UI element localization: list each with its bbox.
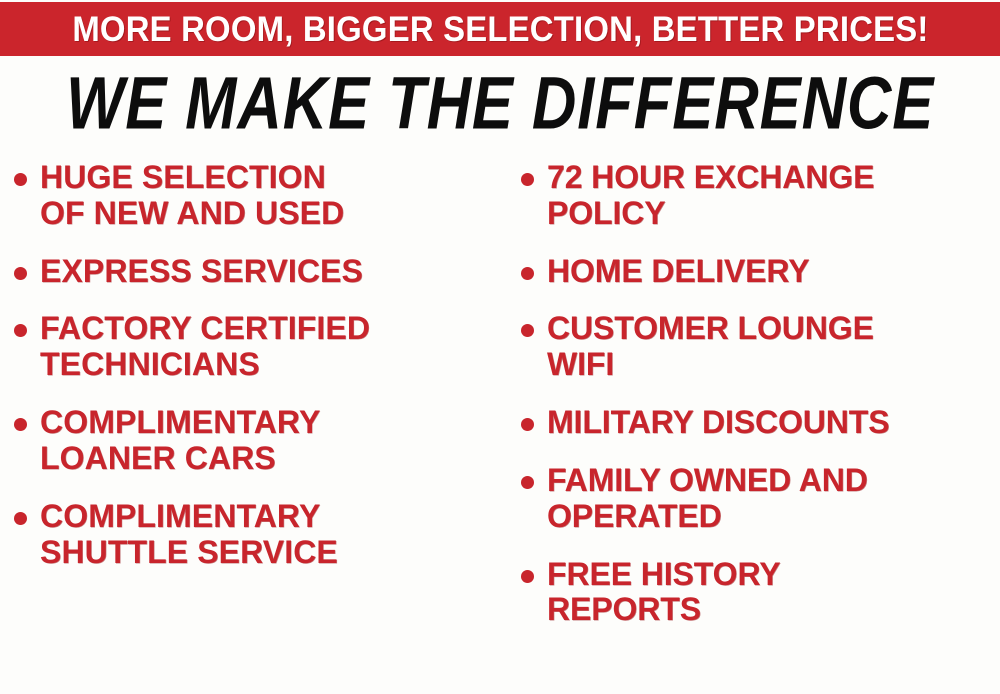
list-item-label: EXPRESS SERVICES	[40, 254, 363, 290]
list-item: HOME DELIVERY	[521, 254, 1000, 290]
bullet-dot-icon	[14, 173, 27, 186]
benefits-column-right: 72 HOUR EXCHANGE POLICY HOME DELIVERY CU…	[505, 160, 1000, 694]
benefits-columns: HUGE SELECTION OF NEW AND USED EXPRESS S…	[0, 160, 1000, 694]
list-item-label: HUGE SELECTION OF NEW AND USED	[40, 160, 344, 232]
bullet-dot-icon	[521, 476, 534, 489]
list-item-label: FACTORY CERTIFIED TECHNICIANS	[40, 311, 370, 383]
list-item: MILITARY DISCOUNTS	[521, 405, 1000, 441]
main-headline-text: WE MAKE THE DIFFERENCE	[66, 66, 934, 140]
list-item: CUSTOMER LOUNGE WIFI	[521, 311, 1000, 383]
benefits-column-left: HUGE SELECTION OF NEW AND USED EXPRESS S…	[0, 160, 505, 694]
list-item-label: MILITARY DISCOUNTS	[547, 405, 890, 441]
list-item-label: 72 HOUR EXCHANGE POLICY	[547, 160, 874, 232]
list-item-label: HOME DELIVERY	[547, 254, 809, 290]
list-item: HUGE SELECTION OF NEW AND USED	[14, 160, 505, 232]
bullet-dot-icon	[14, 324, 27, 337]
list-item-label: CUSTOMER LOUNGE WIFI	[547, 311, 874, 383]
list-item: 72 HOUR EXCHANGE POLICY	[521, 160, 1000, 232]
list-item: FAMILY OWNED AND OPERATED	[521, 463, 1000, 535]
list-item: FACTORY CERTIFIED TECHNICIANS	[14, 311, 505, 383]
bullet-dot-icon	[14, 418, 27, 431]
bullet-dot-icon	[521, 570, 534, 583]
bullet-dot-icon	[14, 512, 27, 525]
main-headline-container: WE MAKE THE DIFFERENCE	[0, 68, 1000, 138]
list-item-label: FREE HISTORY REPORTS	[547, 557, 781, 629]
list-item-label: COMPLIMENTARY LOANER CARS	[40, 405, 320, 477]
bullet-dot-icon	[521, 418, 534, 431]
list-item: COMPLIMENTARY SHUTTLE SERVICE	[14, 499, 505, 571]
promotional-poster: MORE ROOM, BIGGER SELECTION, BETTER PRIC…	[0, 0, 1000, 694]
list-item: COMPLIMENTARY LOANER CARS	[14, 405, 505, 477]
list-item-label: COMPLIMENTARY SHUTTLE SERVICE	[40, 499, 338, 571]
banner-headline-text: MORE ROOM, BIGGER SELECTION, BETTER PRIC…	[72, 12, 928, 47]
bullet-dot-icon	[521, 324, 534, 337]
bullet-dot-icon	[521, 173, 534, 186]
top-banner: MORE ROOM, BIGGER SELECTION, BETTER PRIC…	[0, 2, 1000, 56]
list-item: EXPRESS SERVICES	[14, 254, 505, 290]
list-item: FREE HISTORY REPORTS	[521, 557, 1000, 629]
bullet-dot-icon	[14, 267, 27, 280]
list-item-label: FAMILY OWNED AND OPERATED	[547, 463, 868, 535]
bullet-dot-icon	[521, 267, 534, 280]
